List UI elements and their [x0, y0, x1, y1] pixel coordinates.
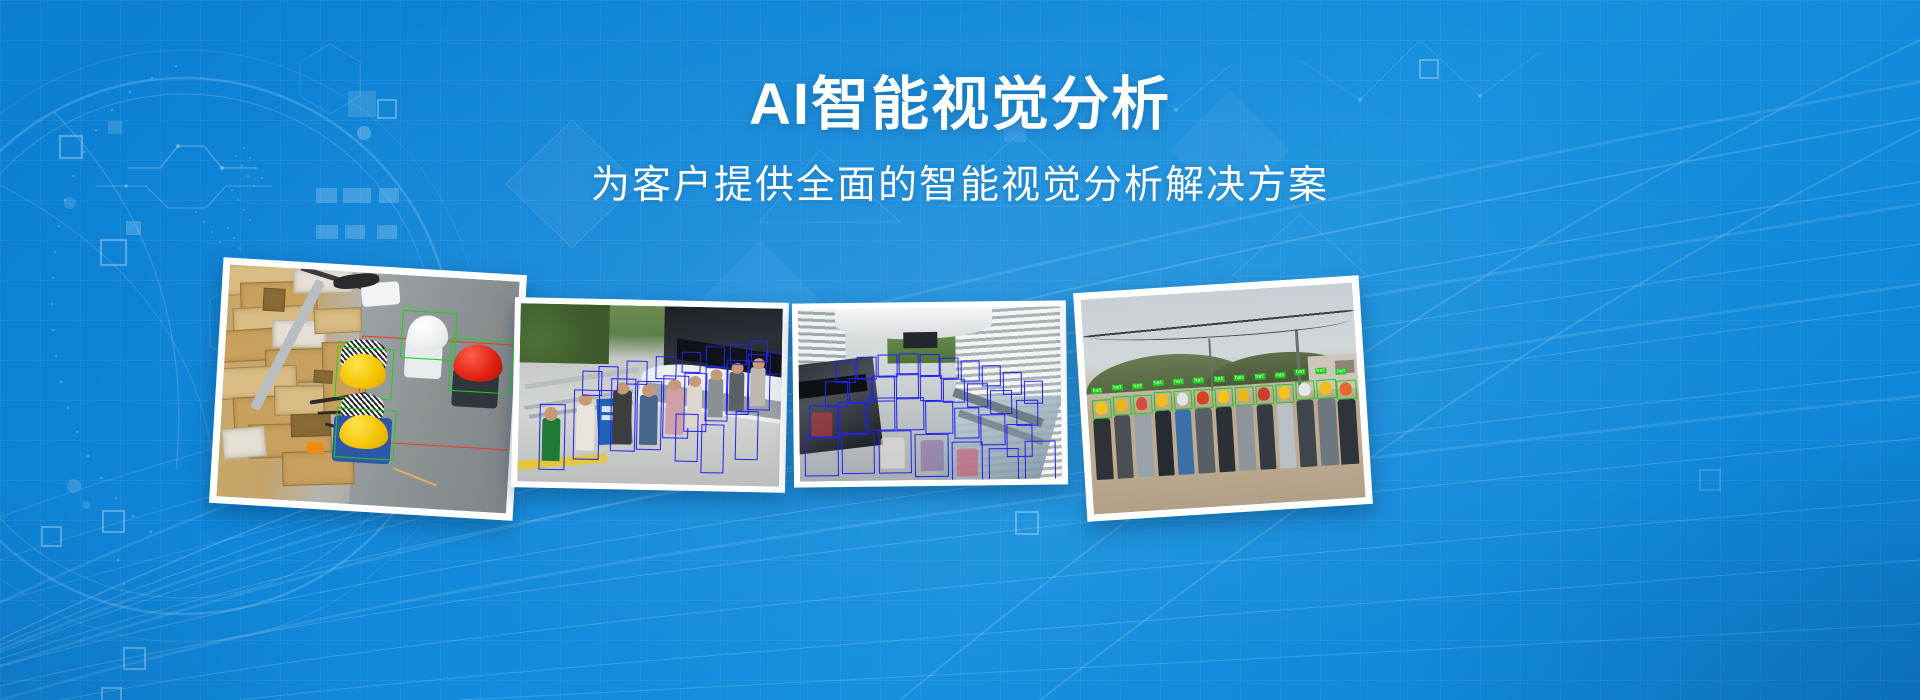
detection-box-helmet: [448, 338, 514, 395]
detection-label-hat: hat: [1193, 377, 1204, 384]
detection-box-person: [573, 390, 600, 460]
detection-label-hat: hat: [1254, 373, 1265, 380]
gallery-photo-bridge-crowd-detection[interactable]: [511, 297, 789, 493]
detection-box-helmet: [333, 407, 396, 461]
detection-box-person: [735, 411, 759, 460]
gallery-photo-outdoor-hat-detection[interactable]: hat hat hat hat hat: [1073, 275, 1373, 522]
detection-box-helmet: [400, 310, 457, 362]
detection-box-person: [582, 370, 603, 396]
page-subtitle: 为客户提供全面的智能视觉分析解决方案: [0, 165, 1920, 208]
detection-box-person: [656, 356, 677, 380]
detection-label-hat: hat: [1234, 375, 1245, 382]
detection-label-hat: hat: [338, 401, 345, 405]
detection-box-person: [706, 346, 725, 368]
detection-label-hat: hat: [1275, 372, 1286, 379]
detection-box-person: [766, 351, 783, 375]
detection-label-hat: hat: [1315, 367, 1326, 374]
detection-label-hat: hat: [1336, 368, 1347, 375]
detection-label-hat: hat: [405, 303, 412, 307]
photo-scene-bridge: [517, 303, 783, 486]
detection-label-hat: hat: [452, 332, 459, 336]
detection-label-hat: hat: [339, 340, 346, 344]
gallery-photo-warehouse-helmet-detection[interactable]: hat hat hat hat: [209, 257, 527, 521]
detection-box-person: [627, 361, 648, 385]
detection-label-hat: hat: [1295, 369, 1306, 376]
hero-banner: AI智能视觉分析 为客户提供全面的智能视觉分析解决方案: [0, 0, 1920, 700]
banner-heading-group: AI智能视觉分析 为客户提供全面的智能视觉分析解决方案: [0, 74, 1920, 208]
detection-box-person: [729, 343, 747, 365]
detection-label-hat: hat: [1213, 376, 1224, 383]
detection-label-hat: hat: [1112, 384, 1123, 391]
detection-box-person: [682, 351, 701, 373]
gallery-photo-station-crowd-detection[interactable]: [792, 300, 1068, 487]
page-title: AI智能视觉分析: [0, 74, 1920, 137]
detection-box-person: [701, 425, 725, 474]
detection-box-helmet: [334, 346, 394, 400]
photo-scene-warehouse: hat hat hat hat: [216, 265, 519, 514]
detection-label-hat: hat: [1152, 380, 1163, 387]
photo-scene-outdoor: hat hat hat hat hat: [1081, 283, 1366, 515]
detection-label-hat: hat: [1173, 378, 1184, 385]
detection-label-hat: hat: [1132, 383, 1143, 390]
photo-scene-station: [798, 306, 1062, 481]
detection-box-person: [675, 413, 699, 462]
detection-box-person: [636, 380, 663, 450]
detection-label-hat: hat: [1092, 388, 1103, 395]
detection-box-person: [538, 403, 565, 470]
